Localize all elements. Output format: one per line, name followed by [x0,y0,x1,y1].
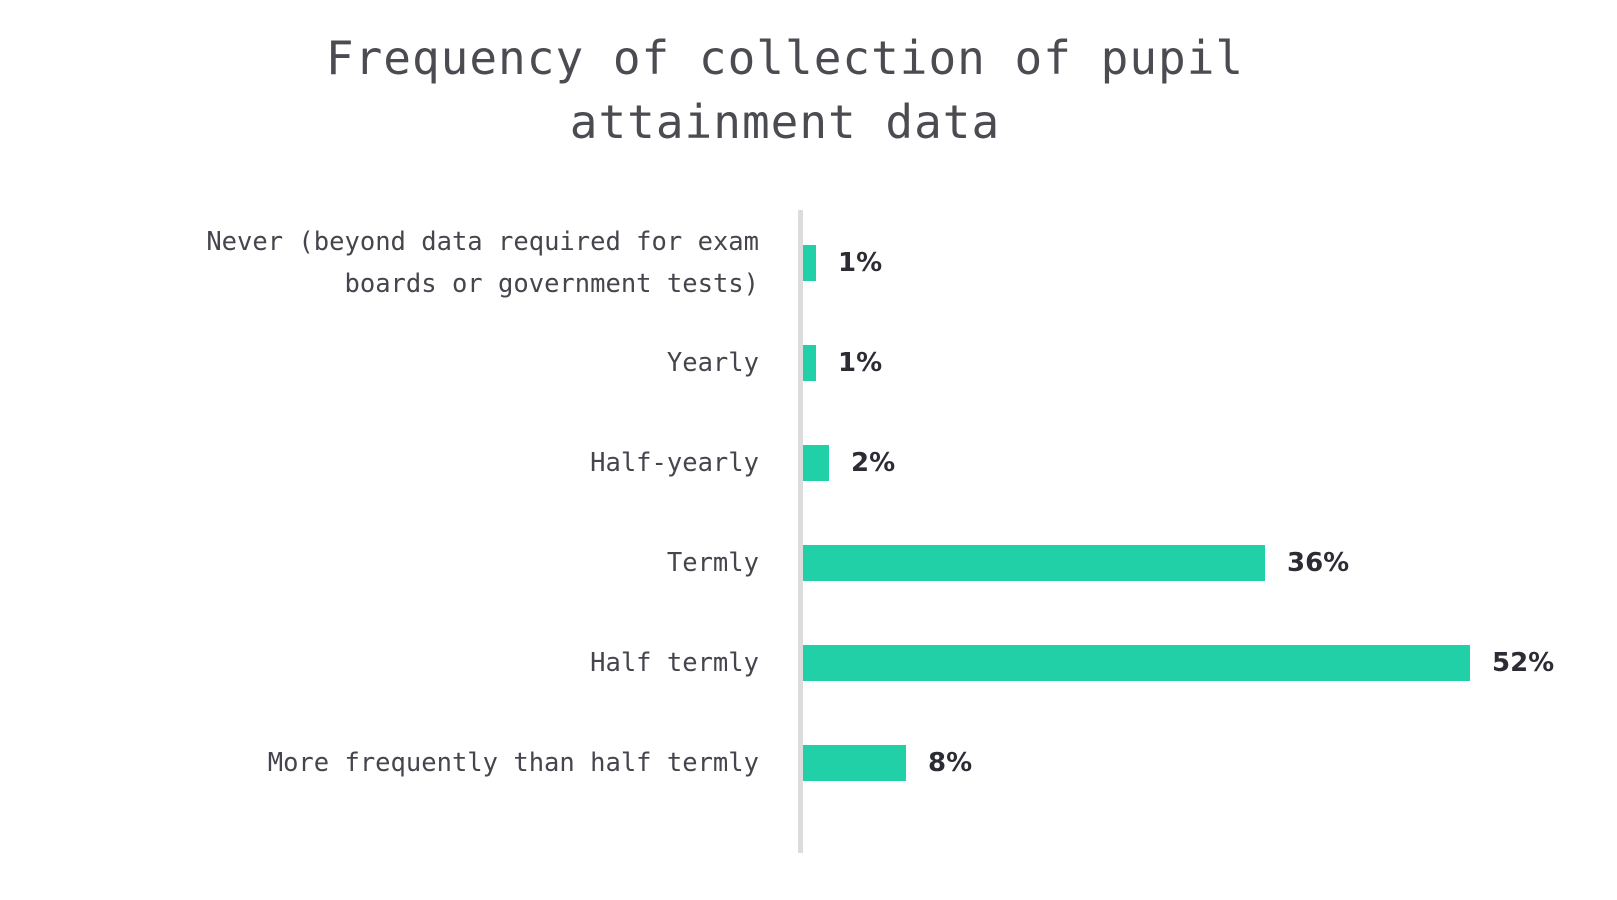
bar-group-yearly: 1% [803,313,882,413]
bar-chart-figure: Frequency of collection of pupil attainm… [0,0,1617,900]
bar-termly[interactable] [803,545,1265,581]
bar-value-never: 1% [838,248,882,278]
category-label-termly: Termly [0,513,759,613]
category-label-never: Never (beyond data required for exam boa… [0,213,759,313]
bar-group-half-termly: 52% [803,613,1554,713]
bar-group-termly: 36% [803,513,1349,613]
bar-row: Half-yearly 2% [0,413,1617,513]
bar-value-yearly: 1% [838,348,882,378]
bar-row: More frequently than half termly 8% [0,713,1617,813]
bar-group-never: 1% [803,213,882,313]
bar-value-half-termly: 52% [1492,648,1554,678]
bar-value-half-yearly: 2% [851,448,895,478]
category-label-yearly: Yearly [0,313,759,413]
bar-more-frequently[interactable] [803,745,906,781]
bar-row: Never (beyond data required for exam boa… [0,213,1617,313]
chart-title: Frequency of collection of pupil attainm… [0,26,1570,154]
bar-group-half-yearly: 2% [803,413,895,513]
category-label-more-frequently: More frequently than half termly [0,713,759,813]
bar-value-termly: 36% [1287,548,1349,578]
bar-group-more-frequently: 8% [803,713,972,813]
bar-row: Yearly 1% [0,313,1617,413]
category-label-half-termly: Half termly [0,613,759,713]
category-label-half-yearly: Half-yearly [0,413,759,513]
bar-row: Termly 36% [0,513,1617,613]
bar-yearly[interactable] [803,345,816,381]
bar-half-yearly[interactable] [803,445,829,481]
bar-value-more-frequently: 8% [928,748,972,778]
bar-row: Half termly 52% [0,613,1617,713]
bar-half-termly[interactable] [803,645,1470,681]
plot-area: Never (beyond data required for exam boa… [0,195,1617,875]
bar-never[interactable] [803,245,816,281]
